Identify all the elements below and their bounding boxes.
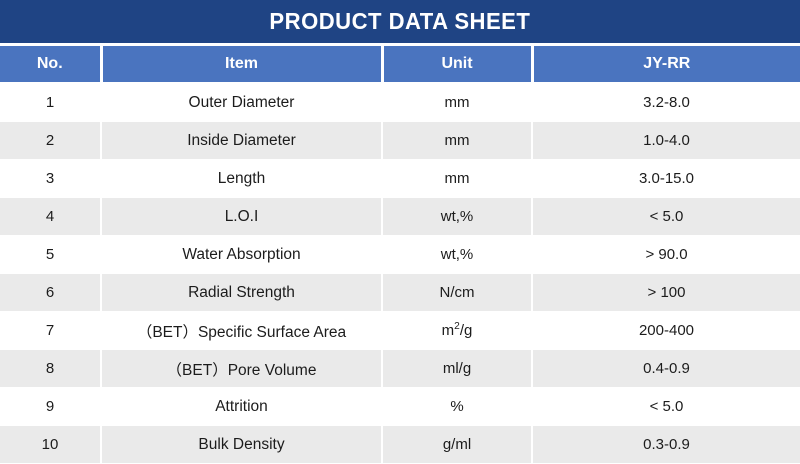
table-row: 10Bulk Densityg/ml0.3-0.9 [0, 426, 800, 464]
cell-no: 10 [0, 426, 101, 464]
cell-no: 1 [0, 83, 101, 122]
table-row: 4L.O.Iwt,%< 5.0 [0, 198, 800, 236]
cell-item: Radial Strength [101, 274, 382, 312]
title-band: PRODUCT DATA SHEET [0, 0, 800, 43]
cell-item: Outer Diameter [101, 83, 382, 122]
cell-unit: N/cm [382, 274, 532, 312]
cell-item: L.O.I [101, 198, 382, 236]
cell-unit: % [382, 388, 532, 426]
cell-no: 6 [0, 274, 101, 312]
table-row: 9Attrition%< 5.0 [0, 388, 800, 426]
cell-no: 5 [0, 236, 101, 274]
cell-value: 3.0-15.0 [532, 160, 800, 198]
cell-value: < 5.0 [532, 198, 800, 236]
cell-value: > 100 [532, 274, 800, 312]
column-header-unit: Unit [382, 46, 532, 83]
column-header-item: Item [101, 46, 382, 83]
cell-no: 8 [0, 350, 101, 388]
cell-value: < 5.0 [532, 388, 800, 426]
cell-unit: g/ml [382, 426, 532, 464]
cell-no: 7 [0, 312, 101, 350]
cell-item: Inside Diameter [101, 122, 382, 160]
cell-item: Attrition [101, 388, 382, 426]
column-header-no: No. [0, 46, 101, 83]
table-header-row: No. Item Unit JY-RR [0, 46, 800, 83]
cell-unit: mm [382, 83, 532, 122]
page-title: PRODUCT DATA SHEET [270, 10, 531, 33]
cell-value: 3.2-8.0 [532, 83, 800, 122]
cell-unit: m2/g [382, 312, 532, 350]
column-header-value: JY-RR [532, 46, 800, 83]
cell-unit: wt,% [382, 198, 532, 236]
cell-no: 9 [0, 388, 101, 426]
cell-unit: wt,% [382, 236, 532, 274]
cell-value: 0.4-0.9 [532, 350, 800, 388]
cell-value: > 90.0 [532, 236, 800, 274]
cell-unit: mm [382, 160, 532, 198]
table-row: 1Outer Diametermm3.2-8.0 [0, 83, 800, 122]
cell-item: Water Absorption [101, 236, 382, 274]
cell-item: （BET）Pore Volume [101, 350, 382, 388]
table-row: 8（BET）Pore Volumeml/g0.4-0.9 [0, 350, 800, 388]
cell-no: 2 [0, 122, 101, 160]
table-row: 6Radial StrengthN/cm> 100 [0, 274, 800, 312]
spec-table: No. Item Unit JY-RR 1Outer Diametermm3.2… [0, 46, 800, 464]
cell-unit: ml/g [382, 350, 532, 388]
product-data-sheet: PRODUCT DATA SHEET No. Item Unit JY-RR 1… [0, 0, 800, 455]
cell-value: 0.3-0.9 [532, 426, 800, 464]
table-row: 7（BET）Specific Surface Aream2/g200-400 [0, 312, 800, 350]
cell-unit: mm [382, 122, 532, 160]
cell-item: （BET）Specific Surface Area [101, 312, 382, 350]
cell-no: 3 [0, 160, 101, 198]
table-header: No. Item Unit JY-RR [0, 46, 800, 83]
cell-no: 4 [0, 198, 101, 236]
table-row: 5Water Absorptionwt,%> 90.0 [0, 236, 800, 274]
table-body: 1Outer Diametermm3.2-8.02Inside Diameter… [0, 83, 800, 464]
table-row: 3Lengthmm3.0-15.0 [0, 160, 800, 198]
cell-item: Length [101, 160, 382, 198]
cell-value: 1.0-4.0 [532, 122, 800, 160]
cell-value: 200-400 [532, 312, 800, 350]
table-row: 2Inside Diametermm1.0-4.0 [0, 122, 800, 160]
cell-item: Bulk Density [101, 426, 382, 464]
